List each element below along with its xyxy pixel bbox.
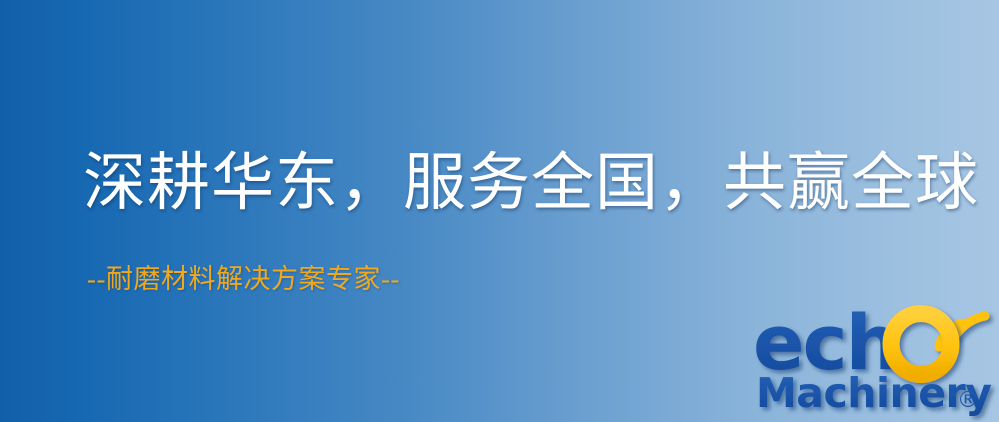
banner-headline: 深耕华东，服务全国，共赢全球 xyxy=(83,152,979,215)
echo-machinery-logo[interactable]: ech Machinery ® xyxy=(749,288,999,422)
logo-graphic: ech Machinery ® xyxy=(749,288,999,422)
svg-text:®: ® xyxy=(957,388,979,413)
banner-subtitle: --耐磨材料解决方案专家-- xyxy=(87,266,400,293)
promotional-banner: 深耕华东，服务全国，共赢全球 --耐磨材料解决方案专家-- xyxy=(0,0,999,422)
logo-tagline: Machinery ® xyxy=(756,369,991,417)
